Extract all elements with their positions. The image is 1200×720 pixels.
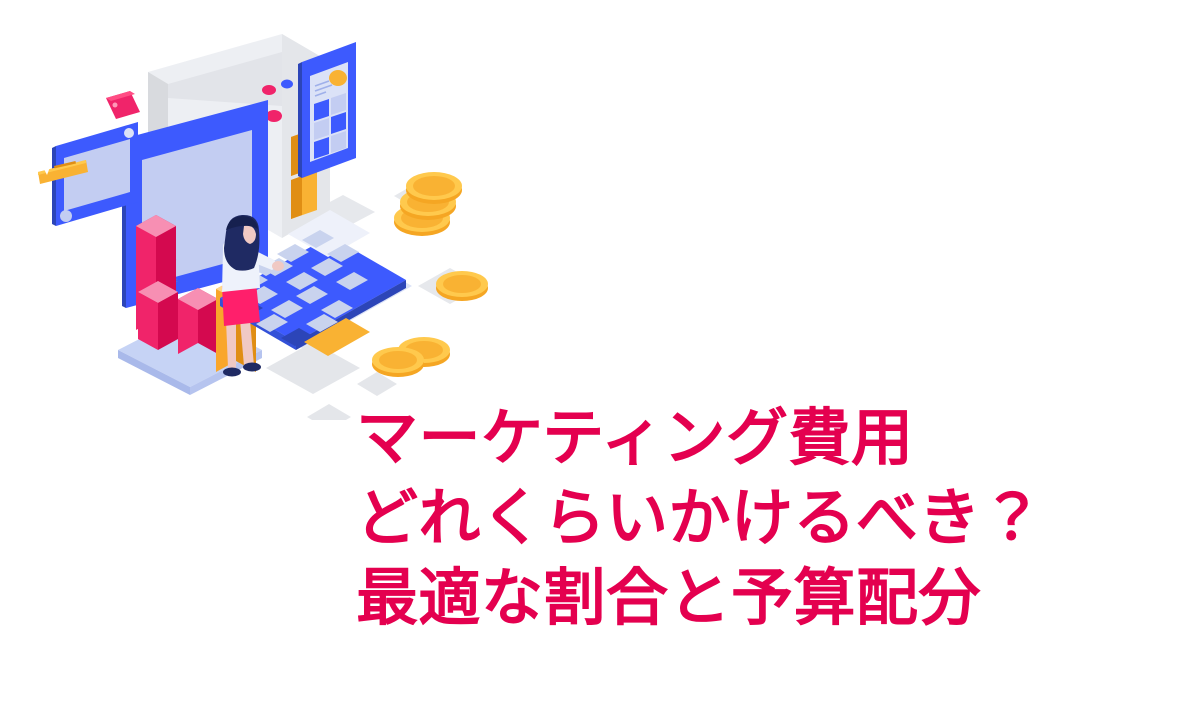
coin-stack (394, 172, 462, 236)
coin-single (436, 271, 488, 301)
headline-line-1: マーケティング費用 (356, 398, 1176, 478)
coin-pair (372, 337, 450, 377)
headline-line-3: 最適な割合と予算配分 (356, 558, 1176, 638)
banner-canvas: # # (0, 0, 1200, 720)
page-title: マーケティング費用 どれくらいかけるべき？ 最適な割合と予算配分 (356, 398, 1176, 638)
pink-ribbon-bookmark (106, 91, 140, 119)
isometric-marketing-budget-illustration: # # (30, 20, 530, 420)
headline-line-2: どれくらいかけるべき？ (356, 478, 1176, 558)
mobile-phone-screen (298, 42, 356, 178)
pink-box-foreground (138, 281, 178, 350)
